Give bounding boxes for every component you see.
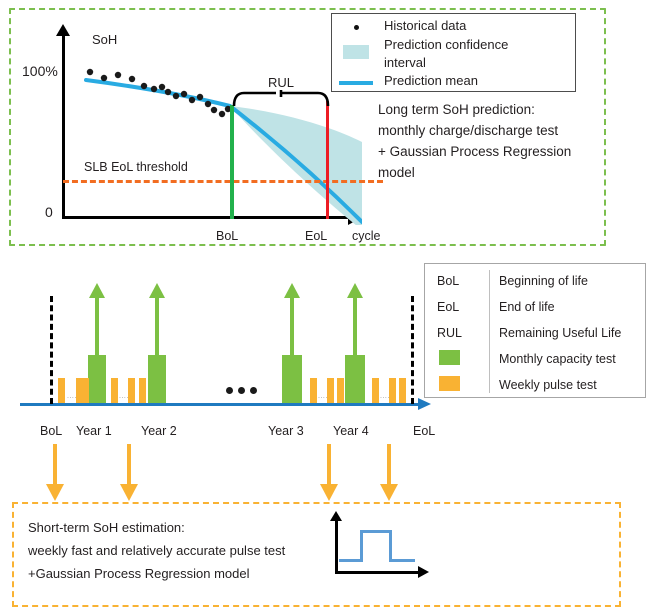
legend-key-rul: RUL — [437, 326, 462, 340]
legend-historical-dot-icon — [354, 25, 359, 30]
weekly-pulse-bar — [76, 378, 83, 403]
timeline-ellipsis-dot — [238, 387, 245, 394]
long-term-line-2: monthly charge/discharge test — [378, 120, 608, 141]
timeline-label-eol: EoL — [413, 424, 435, 438]
pulse-test-down-arrow-head-icon — [320, 484, 338, 501]
bol-dashed-marker — [50, 296, 53, 404]
pulse-signal-segment — [360, 530, 392, 533]
pulse-plot-y-arrow-icon — [330, 511, 342, 521]
long-term-line-3: + Gaussian Process Regression — [378, 141, 608, 162]
short-term-line-3: +Gaussian Process Regression model — [28, 562, 348, 585]
legend-desc-monthly: Monthly capacity test — [499, 352, 616, 366]
long-term-line-1: Long term SoH prediction: — [378, 99, 608, 120]
timeline-label-year-1: Year 1 — [76, 424, 112, 438]
short-term-line-1: Short-term SoH estimation: — [28, 516, 348, 539]
weekly-pulse-bar — [139, 378, 146, 403]
legend-label-prediction-mean: Prediction mean — [384, 74, 478, 87]
legend-desc-rul: Remaining Useful Life — [499, 326, 621, 340]
timeline-label-year-2: Year 2 — [141, 424, 177, 438]
monthly-capacity-bar — [148, 355, 166, 403]
pulse-test-down-arrow — [387, 444, 391, 486]
weekly-pulse-bar — [111, 378, 118, 403]
pulse-signal-segment — [360, 530, 363, 562]
capacity-test-up-arrow-head-icon — [347, 283, 363, 298]
soh-curve-plot — [62, 30, 362, 225]
monthly-capacity-bar — [88, 355, 106, 403]
pulse-test-down-arrow — [53, 444, 57, 486]
capacity-test-up-arrow — [353, 297, 357, 355]
legend-desc-eol: End of life — [499, 300, 555, 314]
weekly-pulse-bar — [399, 378, 406, 403]
pulse-signal-segment — [389, 530, 392, 562]
short-term-line-2: weekly fast and relatively accurate puls… — [28, 539, 348, 562]
timeline-arrow-icon — [418, 398, 431, 410]
pulse-test-down-arrow-head-icon — [120, 484, 138, 501]
bol-vertical-line — [230, 105, 234, 219]
weekly-pulse-bar — [372, 378, 379, 403]
pulse-test-down-arrow-head-icon — [380, 484, 398, 501]
timeline-label-year-3: Year 3 — [268, 424, 304, 438]
chart-legend: Historical data Prediction confidence in… — [331, 13, 576, 92]
pulse-plot-x-axis — [335, 571, 420, 574]
timeline-axis — [20, 403, 420, 406]
capacity-test-up-arrow-head-icon — [149, 283, 165, 298]
weekly-pulse-bar — [310, 378, 317, 403]
chart-x-axis-label: cycle — [352, 230, 380, 243]
legend-desc-weekly: Weekly pulse test — [499, 378, 597, 392]
pulse-plot-y-axis — [335, 518, 338, 573]
timeline-label-bol: BoL — [40, 424, 62, 438]
legend-swatch-weekly-pulse — [439, 376, 460, 391]
pulse-plot-x-arrow-icon — [418, 566, 429, 578]
rul-bracket — [232, 88, 330, 108]
legend-desc-bol: Beginning of life — [499, 274, 588, 288]
eol-dashed-marker — [411, 296, 414, 404]
slb-eol-threshold-line — [63, 180, 383, 183]
legend-key-eol: EoL — [437, 300, 459, 314]
weekly-pulse-bar — [58, 378, 65, 403]
legend-confidence-band-icon — [343, 45, 369, 59]
legend-prediction-line-icon — [339, 81, 373, 85]
pulse-test-down-arrow — [327, 444, 331, 486]
chart-y-tick-100: 100% — [22, 64, 58, 78]
capacity-test-up-arrow-head-icon — [89, 283, 105, 298]
pulse-signal-segment — [389, 559, 415, 562]
chart-y-tick-zero: 0 — [45, 205, 53, 219]
legend-divider — [489, 270, 490, 393]
pulse-test-down-arrow-head-icon — [46, 484, 64, 501]
weekly-pulse-bar — [128, 378, 135, 403]
eol-vertical-line — [326, 101, 329, 219]
weekly-pulse-bar — [337, 378, 344, 403]
weekly-pulse-bar — [83, 378, 89, 403]
chart-eol-label: EoL — [305, 230, 327, 243]
long-term-line-4: model — [378, 162, 608, 183]
monthly-capacity-bar — [345, 355, 365, 403]
legend-label-confidence: Prediction confidence — [384, 38, 508, 51]
capacity-test-up-arrow — [155, 297, 159, 355]
long-term-description: Long term SoH prediction: monthly charge… — [378, 99, 608, 183]
bar-gap-dots: .... — [67, 393, 77, 400]
timeline-label-year-4: Year 4 — [333, 424, 369, 438]
weekly-pulse-bar — [327, 378, 334, 403]
chart-bol-label: BoL — [216, 230, 238, 243]
timeline-ellipsis-dot — [250, 387, 257, 394]
monthly-capacity-bar — [282, 355, 302, 403]
timeline-ellipsis-dot — [226, 387, 233, 394]
legend-label-interval: interval — [384, 56, 426, 69]
short-term-description: Short-term SoH estimation: weekly fast a… — [28, 516, 348, 585]
capacity-test-up-arrow — [290, 297, 294, 355]
bar-gap-dots: .... — [380, 393, 390, 400]
legend-label-historical: Historical data — [384, 19, 466, 32]
weekly-pulse-bar — [389, 378, 396, 403]
legend-swatch-monthly-capacity — [439, 350, 460, 365]
pulse-test-down-arrow — [127, 444, 131, 486]
capacity-test-up-arrow — [95, 297, 99, 355]
legend-key-bol: BoL — [437, 274, 459, 288]
bar-gap-dots: .... — [119, 393, 129, 400]
capacity-test-up-arrow-head-icon — [284, 283, 300, 298]
bar-gap-dots: .... — [318, 393, 328, 400]
timeline-legend: BoL EoL RUL Beginning of life End of lif… — [424, 263, 646, 398]
